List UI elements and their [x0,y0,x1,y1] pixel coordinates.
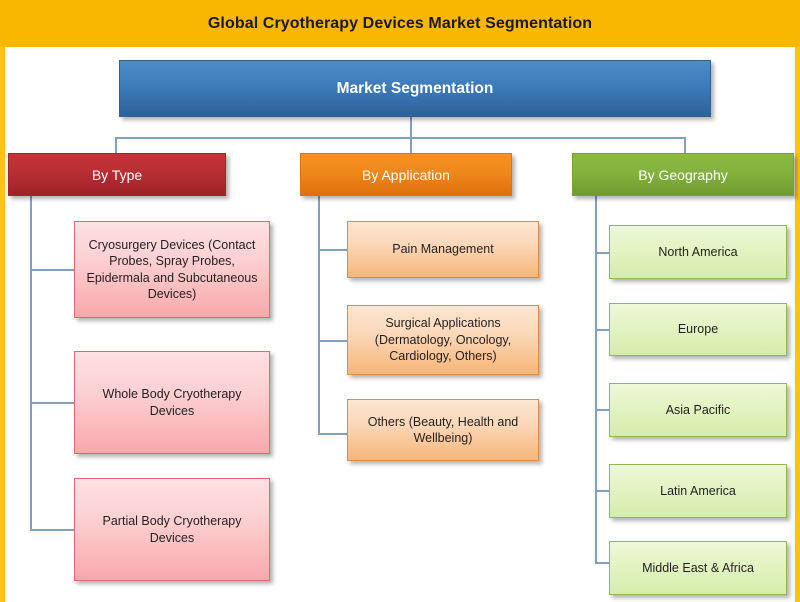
connector-branch-type-1 [30,269,75,271]
connector-branch-geo-4 [595,490,610,492]
connector-drop-by-application [410,137,412,153]
connector-branch-geo-5 [595,562,610,564]
node-application-others[interactable]: Others (Beauty, Health and Wellbeing) [347,399,539,461]
connector-branch-type-3 [30,529,75,531]
connector-branch-app-1 [318,249,348,251]
frame-border-right [795,47,800,602]
node-label: Partial Body Cryotherapy Devices [75,513,269,546]
page-title: Global Cryotherapy Devices Market Segmen… [208,15,592,33]
node-geography-north-america[interactable]: North America [609,225,787,279]
node-by-type[interactable]: By Type [8,153,226,196]
connector-branch-geo-1 [595,252,610,254]
node-label: North America [610,244,786,261]
node-label: By Geography [573,167,793,183]
node-label: Whole Body Cryotherapy Devices [75,386,269,419]
node-label: By Application [301,167,511,183]
node-application-pain-management[interactable]: Pain Management [347,221,539,278]
connector-branch-app-3 [318,433,348,435]
connector-branch-geo-3 [595,409,610,411]
connector-root-bus [115,137,685,139]
node-type-partial-body-cryotherapy-devices[interactable]: Partial Body Cryotherapy Devices [74,478,270,581]
node-geography-europe[interactable]: Europe [609,303,787,356]
node-by-geography[interactable]: By Geography [572,153,794,196]
connector-root-stem [410,117,412,137]
node-label: Asia Pacific [610,402,786,419]
connector-trunk-by-type [30,196,32,530]
connector-branch-type-2 [30,402,75,404]
node-label: By Type [9,167,225,183]
node-geography-asia-pacific[interactable]: Asia Pacific [609,383,787,437]
market-segmentation-diagram: Global Cryotherapy Devices Market Segmen… [0,0,800,602]
node-label: Others (Beauty, Health and Wellbeing) [348,414,538,447]
node-market-segmentation[interactable]: Market Segmentation [119,60,711,117]
node-label: Cryosurgery Devices (Contact Probes, Spr… [75,237,269,303]
frame-border-left [0,47,5,602]
connector-drop-by-geography [684,137,686,153]
connector-drop-by-type [115,137,117,153]
node-label: Europe [610,321,786,338]
node-type-whole-body-cryotherapy-devices[interactable]: Whole Body Cryotherapy Devices [74,351,270,454]
node-label: Surgical Applications (Dermatology, Onco… [348,315,538,365]
node-geography-latin-america[interactable]: Latin America [609,464,787,518]
node-label: Middle East & Africa [610,560,786,577]
connector-trunk-by-application [318,196,320,434]
node-type-cryosurgery-devices[interactable]: Cryosurgery Devices (Contact Probes, Spr… [74,221,270,318]
diagram-title-bar: Global Cryotherapy Devices Market Segmen… [0,0,800,47]
connector-branch-app-2 [318,340,348,342]
connector-branch-geo-2 [595,329,610,331]
node-label: Market Segmentation [120,80,710,98]
node-application-surgical-applications[interactable]: Surgical Applications (Dermatology, Onco… [347,305,539,375]
node-label: Pain Management [348,241,538,258]
node-geography-middle-east-africa[interactable]: Middle East & Africa [609,541,787,595]
node-label: Latin America [610,483,786,500]
node-by-application[interactable]: By Application [300,153,512,196]
